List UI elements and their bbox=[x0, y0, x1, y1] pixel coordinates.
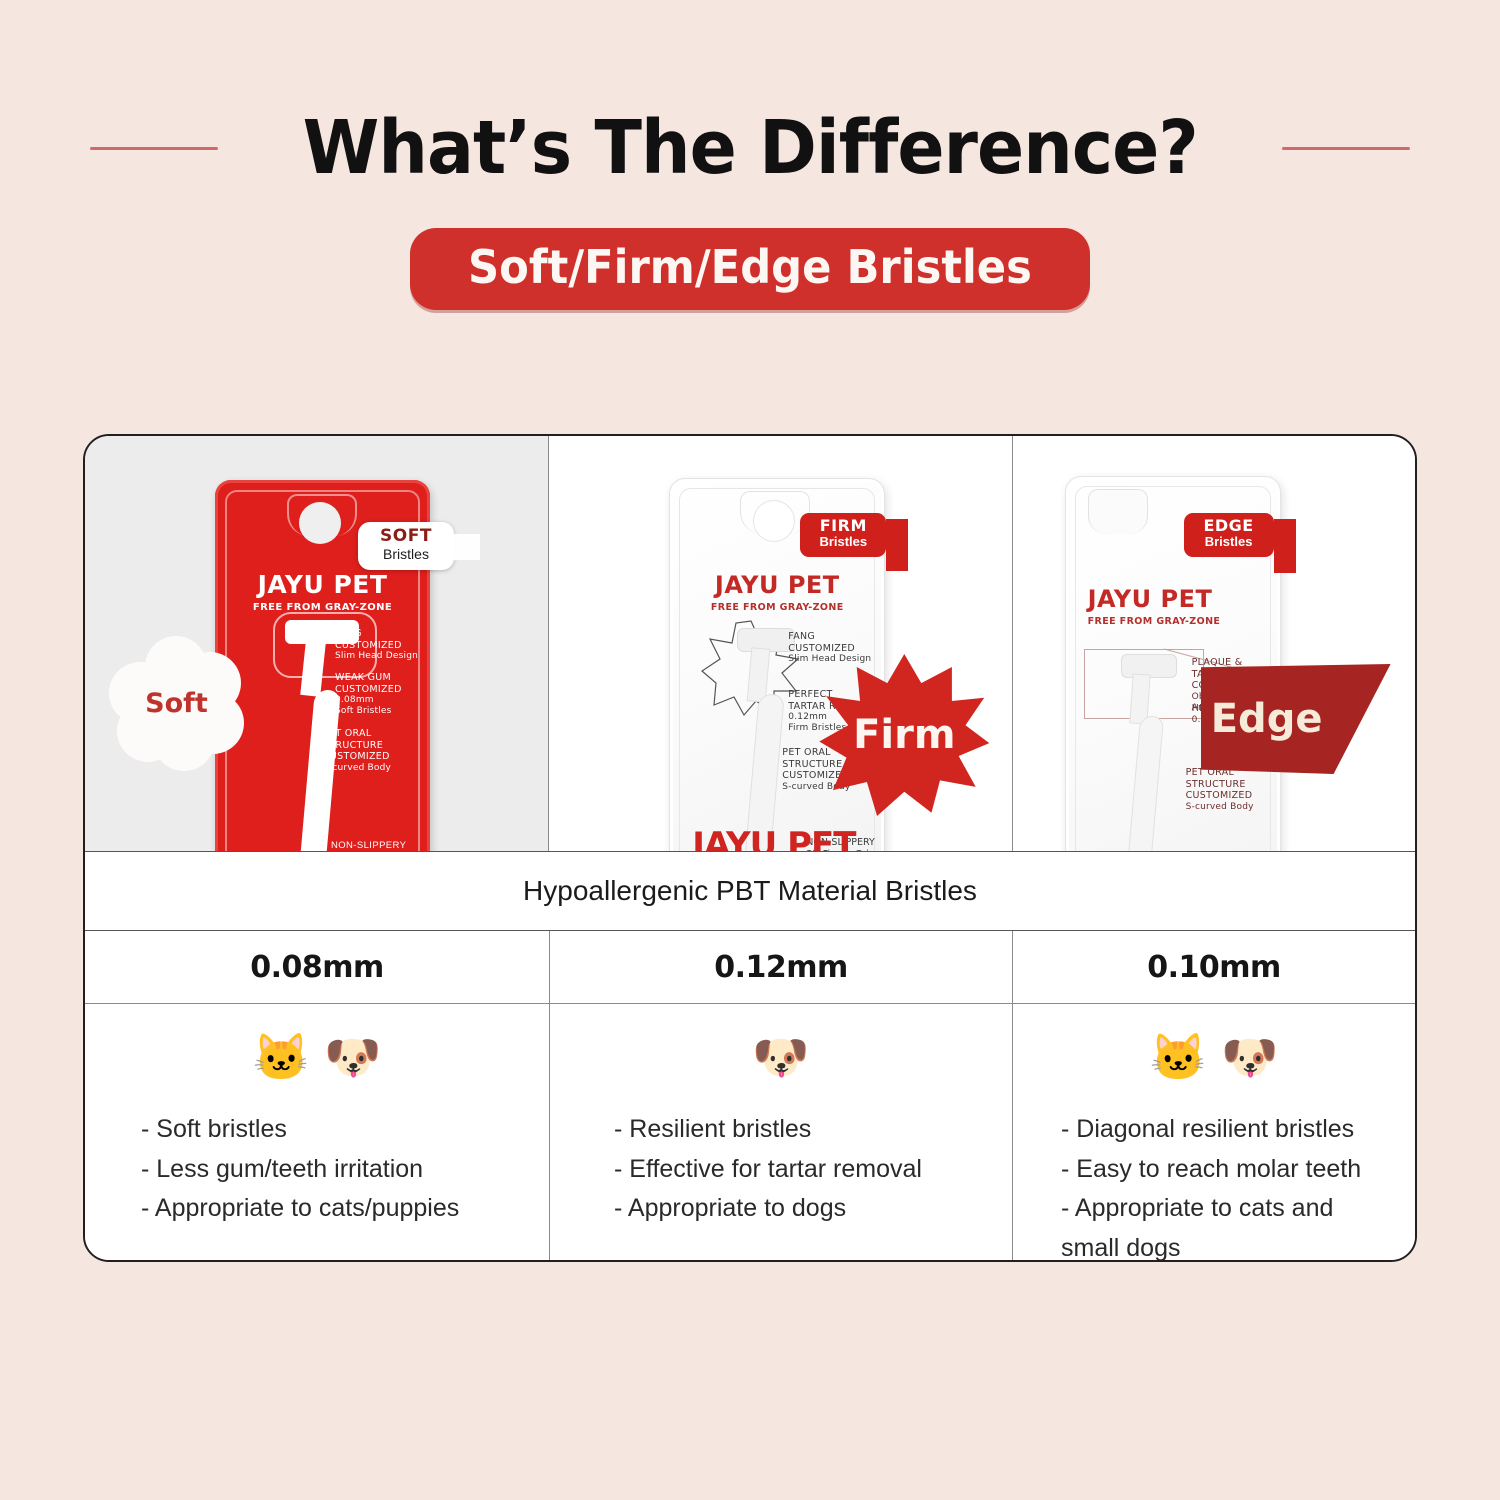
detail-cell-firm: 🐶 - Resilient bristles - Effective for t… bbox=[549, 1004, 1012, 1262]
bristle-type-title: EDGE bbox=[1194, 518, 1264, 535]
annotation-line2: CUSTOMIZED bbox=[788, 643, 871, 655]
bristle-type-title: SOFT bbox=[370, 528, 442, 546]
dog-face-icon: 🐶 bbox=[324, 1034, 381, 1080]
page-title: What’s The Difference? bbox=[302, 105, 1197, 191]
bristle-type-tag-soft: SOFT Bristles bbox=[358, 522, 454, 570]
brush-head bbox=[1122, 655, 1176, 677]
list-item: - Appropriate to cats/puppies bbox=[141, 1189, 549, 1229]
annotation-line1: FANG bbox=[335, 628, 418, 640]
detail-cell-soft: 🐱 🐶 - Soft bristles - Less gum/teeth irr… bbox=[85, 1004, 549, 1262]
comparison-card: JAYU PET FREE FROM GRAY-ZONE SOFT Bristl… bbox=[83, 434, 1417, 1262]
hook-notch bbox=[1088, 489, 1148, 534]
annotation-line3: S-curved Body bbox=[323, 763, 430, 774]
package-soft: JAYU PET FREE FROM GRAY-ZONE SOFT Bristl… bbox=[215, 480, 430, 851]
hang-hole bbox=[299, 502, 341, 544]
comparison-table: Hypoallergenic PBT Material Bristles 0.0… bbox=[85, 851, 1415, 1262]
product-panels: JAYU PET FREE FROM GRAY-ZONE SOFT Bristl… bbox=[85, 436, 1415, 851]
list-item: - Appropriate to dogs bbox=[614, 1189, 1012, 1229]
title-row: What’s The Difference? bbox=[0, 98, 1500, 198]
product-panel-firm: JAYU PET FREE FROM GRAY-ZONE FIRM Bristl… bbox=[548, 436, 1011, 851]
list-item: - Soft bristles bbox=[141, 1110, 549, 1150]
brush-neck bbox=[748, 648, 769, 701]
brand-name: JAYU PET bbox=[1088, 585, 1302, 613]
subtitle-wrap: Soft/Firm/Edge Bristles bbox=[0, 228, 1500, 310]
detail-cell-edge: 🐱 🐶 - Diagonal resilient bristles - Easy… bbox=[1012, 1004, 1415, 1262]
bullet-list: - Soft bristles - Less gum/teeth irritat… bbox=[85, 1110, 549, 1229]
annotation-fang: FANG CUSTOMIZED Slim Head Design bbox=[335, 628, 418, 662]
size-cell-edge: 0.10mm bbox=[1012, 931, 1415, 1003]
title-rule-right bbox=[1282, 147, 1410, 150]
brand-name: JAYU PET bbox=[670, 571, 884, 599]
dog-face-icon: 🐶 bbox=[1221, 1034, 1278, 1080]
brand-tagline: FREE FROM GRAY-ZONE bbox=[670, 602, 884, 613]
bristle-type-title: FIRM bbox=[810, 518, 876, 535]
annotation-line3: 0.08mm Soft Bristles bbox=[335, 695, 402, 717]
tag-strip bbox=[454, 534, 480, 560]
cat-face-icon: 🐱 bbox=[1150, 1034, 1207, 1080]
tag-strip bbox=[886, 519, 908, 571]
material-band: Hypoallergenic PBT Material Bristles bbox=[85, 851, 1415, 931]
material-band-text: Hypoallergenic PBT Material Bristles bbox=[523, 875, 977, 907]
annotation-line2: CUSTOMIZED bbox=[335, 640, 418, 652]
annotation-line3: S-curved Body bbox=[1186, 802, 1280, 813]
list-item: - Appropriate to cats and small dogs bbox=[1061, 1189, 1415, 1262]
bristle-type-tag-edge: EDGE Bristles bbox=[1184, 513, 1274, 557]
bristle-type-sub: Bristles bbox=[370, 546, 442, 562]
page-header: What’s The Difference? Soft/Firm/Edge Br… bbox=[0, 0, 1500, 420]
size-value: 0.12mm bbox=[714, 950, 848, 985]
brush-neck bbox=[1130, 675, 1149, 724]
brush-body bbox=[1127, 717, 1163, 851]
subtitle-text: Soft/Firm/Edge Bristles bbox=[468, 240, 1032, 294]
brand-tagline: FREE FROM GRAY-ZONE bbox=[1088, 616, 1302, 627]
annotation-line2: CUSTOMIZED bbox=[1186, 790, 1280, 802]
bristle-type-tag-firm: FIRM Bristles bbox=[800, 513, 886, 557]
annotation-line1: FANG bbox=[788, 631, 871, 643]
annotation-line2: CUSTOMIZED bbox=[335, 684, 402, 696]
badge-edge: Edge bbox=[1201, 664, 1391, 774]
list-item: - Resilient bristles bbox=[614, 1110, 1012, 1150]
list-item: - Effective for tartar removal bbox=[614, 1150, 1012, 1190]
brand-block: JAYU PET FREE FROM GRAY-ZONE bbox=[215, 570, 430, 613]
badge-soft: Soft bbox=[109, 636, 244, 771]
brand-block: JAYU PET FREE FROM GRAY-ZONE bbox=[1066, 585, 1302, 627]
brand-block: JAYU PET FREE FROM GRAY-ZONE bbox=[670, 571, 884, 613]
table-row-details: 🐱 🐶 - Soft bristles - Less gum/teeth irr… bbox=[85, 1004, 1415, 1262]
badge-soft-label: Soft bbox=[109, 636, 244, 771]
size-cell-firm: 0.12mm bbox=[549, 931, 1012, 1003]
annotation-line1: WEAK GUM bbox=[335, 672, 402, 684]
size-cell-soft: 0.08mm bbox=[85, 931, 549, 1003]
badge-firm: Firm bbox=[819, 654, 989, 816]
badge-edge-label: Edge bbox=[1201, 664, 1333, 774]
size-value: 0.10mm bbox=[1147, 950, 1281, 985]
subtitle-badge: Soft/Firm/Edge Bristles bbox=[410, 228, 1090, 310]
brush-head bbox=[738, 629, 794, 651]
pet-icons: 🐱 🐶 bbox=[85, 1026, 549, 1088]
list-item: - Diagonal resilient bristles bbox=[1061, 1110, 1415, 1150]
title-rule-left bbox=[90, 147, 218, 150]
size-value: 0.08mm bbox=[250, 950, 384, 985]
annotation-weak-gum: WEAK GUM CUSTOMIZED 0.08mm Soft Bristles bbox=[335, 672, 402, 717]
pet-icons: 🐱 🐶 bbox=[1013, 1026, 1415, 1088]
product-panel-edge: EDGE Bristles JAYU PET FREE FROM GRAY-ZO… bbox=[1012, 436, 1415, 851]
bullet-list: - Resilient bristles - Effective for tar… bbox=[550, 1110, 1012, 1229]
tag-strip bbox=[1274, 519, 1296, 573]
pet-icons: 🐶 bbox=[550, 1026, 1012, 1088]
annotation-line3: Slim Head Design bbox=[335, 651, 418, 662]
annotation-line1: PET ORAL STRUCTURE bbox=[323, 728, 430, 751]
brand-name-bottom: JAYU PET bbox=[692, 825, 855, 851]
dog-face-icon: 🐶 bbox=[752, 1034, 809, 1080]
bullet-list: - Diagonal resilient bristles - Easy to … bbox=[1013, 1110, 1415, 1262]
brush-neck bbox=[300, 641, 326, 697]
bristle-type-sub: Bristles bbox=[810, 535, 876, 550]
list-item: - Less gum/teeth irritation bbox=[141, 1150, 549, 1190]
bristle-type-sub: Bristles bbox=[1194, 535, 1264, 550]
annotation-line2: CUSTOMIZED bbox=[323, 751, 430, 763]
product-panel-soft: JAYU PET FREE FROM GRAY-ZONE SOFT Bristl… bbox=[85, 436, 548, 851]
list-item: - Easy to reach molar teeth bbox=[1061, 1150, 1415, 1190]
annotation-oral-structure: PET ORAL STRUCTURE CUSTOMIZED S-curved B… bbox=[323, 728, 430, 774]
cat-face-icon: 🐱 bbox=[253, 1034, 310, 1080]
annotation-non-slippery: NON-SLIPPERY bbox=[331, 840, 406, 851]
brand-name: JAYU PET bbox=[215, 570, 430, 599]
badge-firm-label: Firm bbox=[819, 654, 989, 816]
table-row-sizes: 0.08mm 0.12mm 0.10mm bbox=[85, 931, 1415, 1004]
